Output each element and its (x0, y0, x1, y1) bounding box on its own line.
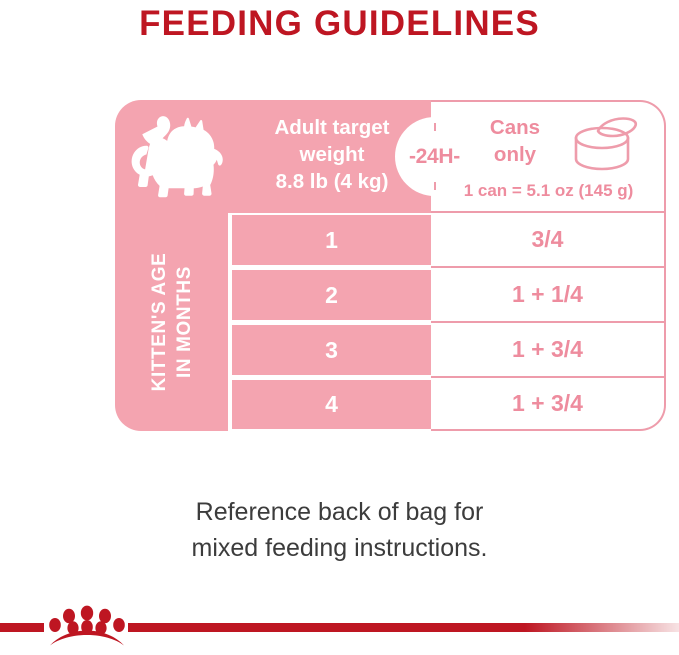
kittens-age-axis-line-2: IN MONTHS (172, 253, 197, 392)
footer-divider-left (0, 623, 44, 632)
month-cell: 3 (232, 325, 431, 375)
kitten-silhouette-icon (127, 116, 231, 202)
table-header-pink-block: Adult target weight 8.8 lb (4 kg) (115, 100, 431, 213)
feeding-interval-badge: -24H- (395, 117, 474, 196)
kittens-age-axis-label: KITTEN'S AGE IN MONTHS (115, 213, 228, 431)
cans-only-line-1: Cans (473, 114, 557, 141)
royal-canin-crown-logo (46, 604, 128, 646)
feeding-guidelines-table: Adult target weight 8.8 lb (4 kg) Cans o… (115, 100, 666, 431)
table-body: KITTEN'S AGE IN MONTHS 1 2 3 4 3/4 1 + 1… (115, 213, 666, 431)
footer-divider-right (128, 623, 679, 632)
month-cell: 4 (232, 380, 431, 429)
footnote: Reference back of bag for mixed feeding … (0, 494, 679, 566)
cans-value-cell: 1 + 3/4 (431, 378, 666, 431)
kittens-age-axis-line-1: KITTEN'S AGE (147, 253, 172, 392)
cans-only-line-2: only (473, 141, 557, 168)
feeding-interval-label: -24H- (395, 117, 474, 196)
cans-value-cell: 1 + 3/4 (431, 323, 666, 378)
month-column: 1 2 3 4 (232, 213, 431, 431)
cans-value-column: 3/4 1 + 1/4 1 + 3/4 1 + 3/4 (431, 213, 666, 431)
open-can-icon (563, 112, 641, 174)
month-cell: 1 (232, 215, 431, 265)
cans-value-cell: 1 + 1/4 (431, 268, 666, 323)
footnote-line-2: mixed feeding instructions. (0, 530, 679, 566)
kittens-age-axis-text: KITTEN'S AGE IN MONTHS (147, 253, 197, 392)
footnote-line-1: Reference back of bag for (0, 494, 679, 530)
month-cell: 2 (232, 270, 431, 320)
page-title: FEEDING GUIDELINES (0, 2, 679, 46)
cans-value-cell: 3/4 (431, 213, 666, 268)
cans-only-label: Cans only (473, 114, 557, 168)
